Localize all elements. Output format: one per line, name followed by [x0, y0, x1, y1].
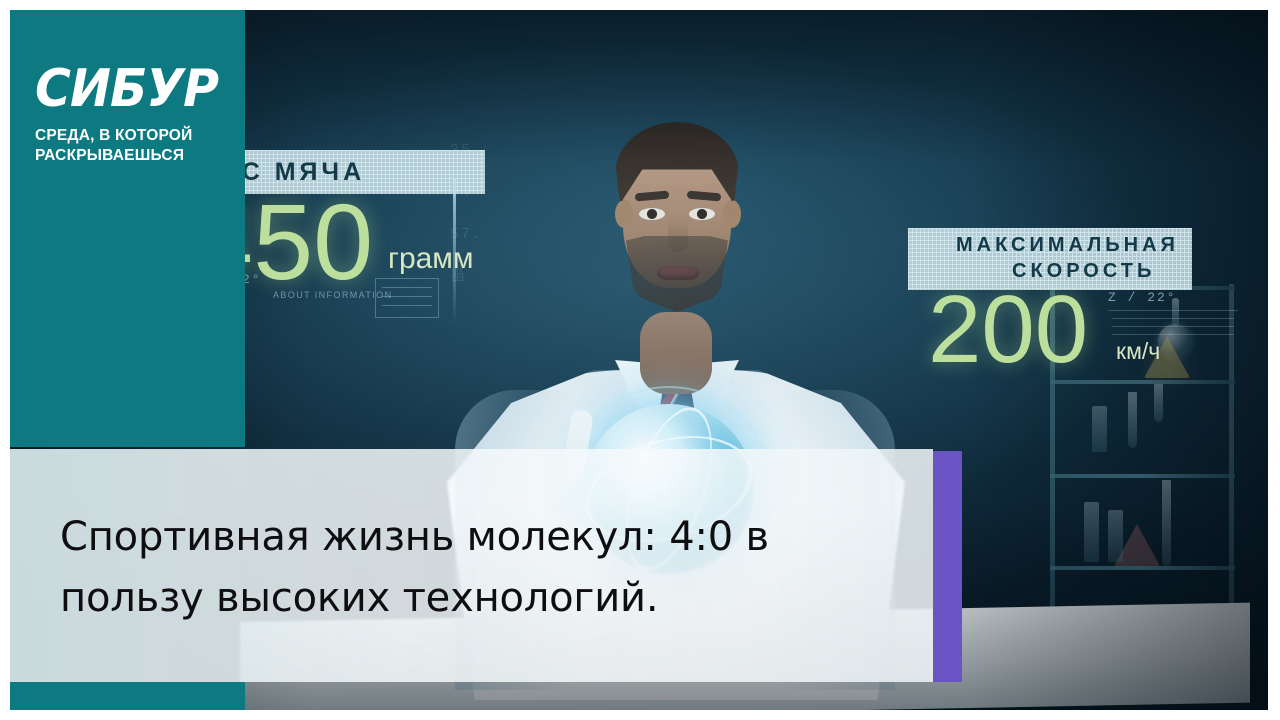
- hud-right-value: 200: [928, 286, 1088, 374]
- hud-left-tick: [453, 178, 456, 324]
- sibur-logo: СИБУР: [35, 58, 218, 118]
- caption-panel: Спортивная жизнь молекул: 4:0 в пользу в…: [10, 449, 933, 682]
- video-still: 35. 74 57. 甾: [10, 10, 1268, 710]
- hud-right-meta: Z / 22°: [1108, 290, 1177, 305]
- caption-text: Спортивная жизнь молекул: 4:0 в пользу в…: [60, 507, 900, 629]
- hud-left-readout-card: [375, 278, 439, 318]
- hud-right-label-line1: МАКСИМАЛЬНАЯ: [956, 234, 1179, 257]
- hud-right-readout-card: [1108, 310, 1238, 346]
- sibur-brand-panel: СИБУР СРЕДА, В КОТОРОЙ РАСКРЫВАЕШЬСЯ: [10, 10, 245, 447]
- video-thumbnail: 35. 74 57. 甾: [0, 0, 1280, 720]
- hud-left-unit: грамм: [388, 242, 474, 276]
- caption-accent-bar: [933, 451, 962, 682]
- sibur-tagline: СРЕДА, В КОТОРОЙ РАСКРЫВАЕШЬСЯ: [35, 126, 240, 166]
- brand-accent-bar: [10, 682, 245, 710]
